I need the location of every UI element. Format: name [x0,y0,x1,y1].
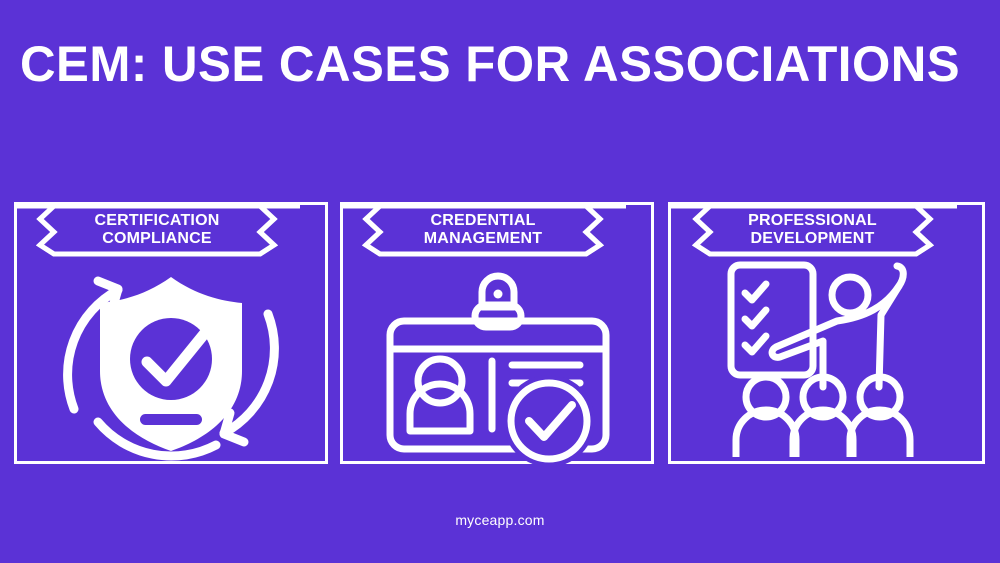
use-case-card-credential-management: CREDENTIAL MANAGEMENT [340,202,654,464]
card-icon-area [340,258,654,464]
card-banner: CREDENTIAL MANAGEMENT [336,202,630,258]
poster-canvas: CEM: USE CASES FOR ASSOCIATIONS CERTIFIC… [0,0,1000,563]
card-icon-area [14,258,328,464]
card-banner-label: PROFESSIONAL DEVELOPMENT [748,212,877,248]
card-banner-label: CERTIFICATION COMPLIANCE [95,212,220,248]
footer-website: myceapp.com [0,512,1000,528]
card-banner-label: CREDENTIAL MANAGEMENT [424,212,542,248]
use-case-card-certification-compliance: CERTIFICATION COMPLIANCE [14,202,328,464]
card-banner: PROFESSIONAL DEVELOPMENT [664,202,961,258]
card-banner: CERTIFICATION COMPLIANCE [10,202,304,258]
presenter-audience-checklist-icon [719,255,934,467]
use-case-card-list: CERTIFICATION COMPLIANCE [0,168,1000,468]
shield-check-refresh-icon [46,259,296,464]
card-icon-area [668,258,985,464]
page-title: CEM: USE CASES FOR ASSOCIATIONS [20,38,968,91]
id-badge-check-icon [372,259,622,464]
use-case-card-professional-development: PROFESSIONAL DEVELOPMENT [668,202,985,464]
